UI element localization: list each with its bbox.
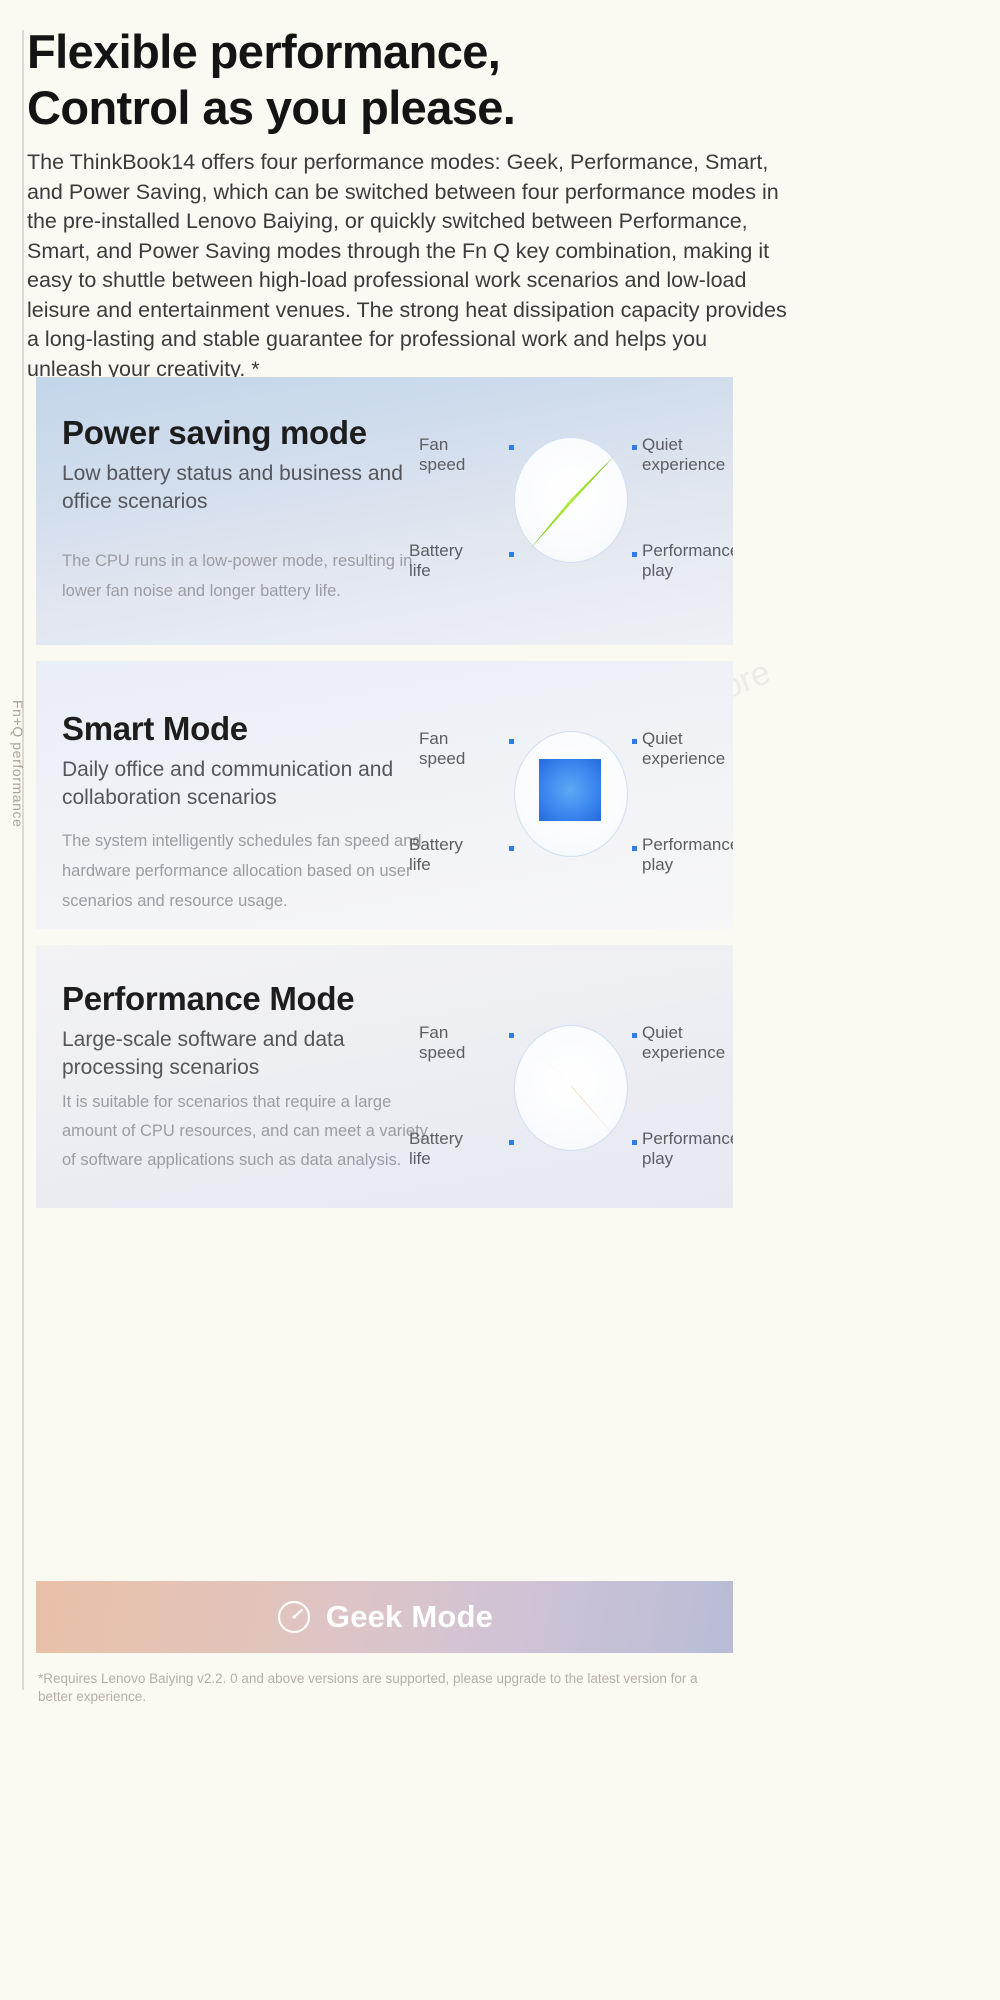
mode-card-list: Power saving mode Low battery status and…	[36, 377, 733, 1208]
fn-q-performance-label: Fn+Q performance	[10, 700, 26, 1000]
intro-paragraph: The ThinkBook14 offers four performance …	[27, 148, 787, 384]
axis-dot-performance-play	[632, 846, 637, 851]
axis-label-fan-speed: Fan speed	[419, 435, 499, 475]
radar-chart-power-saving: Fan speed Quiet experience Battery life …	[441, 431, 731, 631]
card-title: Performance Mode	[62, 979, 436, 1019]
gauge-icon	[276, 1599, 312, 1635]
card-title: Smart Mode	[62, 709, 436, 749]
axis-label-quiet-experience: Quiet experience	[642, 435, 733, 475]
card-subtitle: Daily office and communication and colla…	[62, 756, 436, 812]
geek-mode-label: Geek Mode	[326, 1599, 493, 1635]
axis-label-quiet-experience: Quiet experience	[642, 729, 733, 769]
page-title: Flexible performance, Control as you ple…	[27, 24, 927, 136]
axis-label-performance-play: Performance play	[642, 835, 733, 875]
radar-shape-blue	[514, 731, 628, 857]
card-description: The system intelligently schedules fan s…	[62, 826, 436, 916]
mode-card-power-saving: Power saving mode Low battery status and…	[36, 377, 733, 645]
card-subtitle: Low battery status and business and offi…	[62, 460, 436, 516]
axis-dot-quiet-experience	[632, 1033, 637, 1038]
marketing-page: Fn+Q performance RED SPOT store RED SPOT…	[0, 0, 1000, 2000]
card-subtitle: Large-scale software and data processing…	[62, 1026, 436, 1082]
axis-label-fan-speed: Fan speed	[419, 1023, 499, 1063]
geek-mode-banner[interactable]: Geek Mode	[36, 1581, 733, 1653]
card-text-block: Power saving mode Low battery status and…	[36, 377, 436, 606]
radar-shape-orange	[514, 1025, 628, 1151]
geek-mode-inner: Geek Mode	[276, 1599, 493, 1635]
axis-dot-battery-life	[509, 1140, 514, 1145]
axis-dot-quiet-experience	[632, 445, 637, 450]
axis-dot-performance-play	[632, 1140, 637, 1145]
axis-label-performance-play: Performance play	[642, 541, 733, 581]
axis-label-performance-play: Performance play	[642, 1129, 733, 1169]
axis-label-battery-life: Battery life	[409, 1129, 499, 1169]
axis-dot-battery-life	[509, 552, 514, 557]
card-description: It is suitable for scenarios that requir…	[62, 1088, 436, 1175]
axis-label-battery-life: Battery life	[409, 541, 499, 581]
radar-shape-green	[514, 437, 628, 563]
axis-label-fan-speed: Fan speed	[419, 729, 499, 769]
headline-line-2: Control as you please.	[27, 80, 927, 136]
radar-chart-smart: Fan speed Quiet experience Battery life …	[441, 725, 731, 925]
mode-card-performance: Performance Mode Large-scale software an…	[36, 945, 733, 1208]
mode-card-smart: Smart Mode Daily office and communicatio…	[36, 661, 733, 929]
axis-label-quiet-experience: Quiet experience	[642, 1023, 733, 1063]
axis-dot-fan-speed	[509, 1033, 514, 1038]
card-title: Power saving mode	[62, 413, 436, 453]
axis-label-battery-life: Battery life	[409, 835, 499, 875]
headline-line-1: Flexible performance,	[27, 24, 927, 80]
card-description: The CPU runs in a low-power mode, result…	[62, 546, 436, 606]
footnote-text: *Requires Lenovo Baiying v2.2. 0 and abo…	[38, 1670, 728, 1706]
radar-chart-performance: Fan speed Quiet experience Battery life …	[441, 1019, 731, 1208]
axis-dot-fan-speed	[509, 445, 514, 450]
card-text-block: Performance Mode Large-scale software an…	[36, 945, 436, 1175]
axis-dot-quiet-experience	[632, 739, 637, 744]
axis-dot-battery-life	[509, 846, 514, 851]
axis-dot-fan-speed	[509, 739, 514, 744]
card-text-block: Smart Mode Daily office and communicatio…	[36, 661, 436, 916]
axis-dot-performance-play	[632, 552, 637, 557]
